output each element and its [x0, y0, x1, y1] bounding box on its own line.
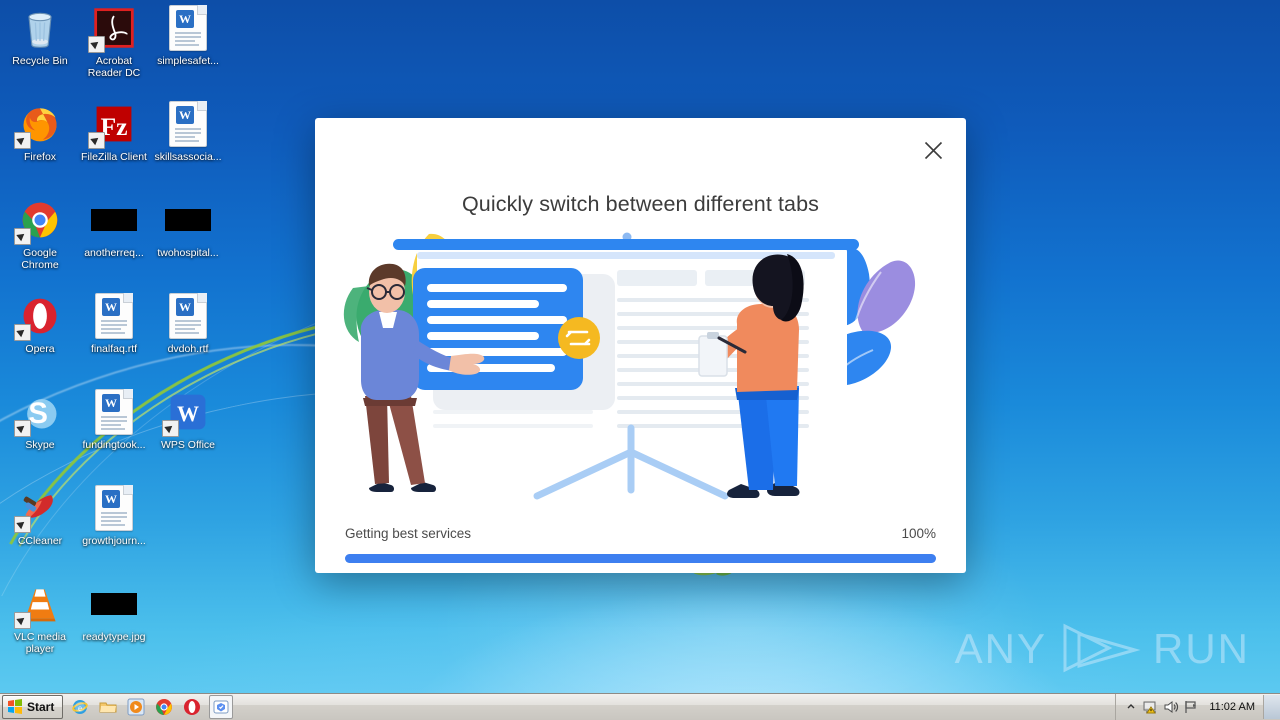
svg-text:S: S: [28, 397, 48, 430]
opera-icon: [16, 292, 64, 340]
start-label: Start: [27, 700, 54, 714]
desktop-icon-acrobat-reader-dc[interactable]: Acrobat Reader DC: [78, 4, 150, 79]
taskbar-item-opera[interactable]: [181, 696, 203, 718]
shortcut-overlay-icon: [14, 516, 31, 533]
shortcut-overlay-icon: [88, 36, 105, 53]
shortcut-overlay-icon: [88, 132, 105, 149]
windows-logo-icon: [7, 699, 23, 715]
desktop-icon-label: growthjourn...: [78, 535, 150, 547]
rtf-doc-icon: W: [164, 292, 212, 340]
desktop-icon-ccleaner[interactable]: CCleaner: [4, 484, 76, 547]
desktop-icon-label: FileZilla Client: [78, 151, 150, 163]
taskbar-item-chrome[interactable]: [153, 696, 175, 718]
volume-icon[interactable]: [1161, 697, 1181, 717]
skype-icon: S: [16, 388, 64, 436]
desktop-icon-label: Google Chrome: [4, 247, 76, 271]
firefox-icon: [16, 100, 64, 148]
board-top-bar: [393, 239, 859, 250]
desktop-icon-label: anotherreq...: [78, 247, 150, 259]
recycle-bin-icon: [16, 4, 64, 52]
windows-explorer-icon: [99, 698, 117, 716]
desktop-icon-label: Opera: [4, 343, 76, 355]
desktop-icon-recycle-bin[interactable]: Recycle Bin: [4, 4, 76, 67]
acrobat-icon: [90, 4, 138, 52]
rtf-doc-icon: W: [90, 388, 138, 436]
chrome-icon: [155, 698, 173, 716]
filezilla-icon: Fz: [90, 100, 138, 148]
action-center-flag-icon[interactable]: [1181, 697, 1201, 717]
desktop-icon-label: Firefox: [4, 151, 76, 163]
show-hidden-icons-icon[interactable]: [1121, 697, 1141, 717]
progress-bar-fill: [345, 554, 936, 563]
desktop-icon-label: readytype.jpg: [78, 631, 150, 643]
desktop-icon-simplesafet[interactable]: Wsimplesafet...: [152, 4, 224, 67]
progress-percent-label: 100%: [901, 526, 936, 541]
progress-track: [345, 554, 936, 563]
taskbar: Start e: [0, 693, 1280, 720]
desktop-icon-filezilla-client[interactable]: FzFileZilla Client: [78, 100, 150, 163]
redacted-icon: [90, 580, 138, 628]
shortcut-overlay-icon: [14, 612, 31, 629]
desktop-icon-skype[interactable]: SSkype: [4, 388, 76, 451]
desktop-icon-label: dvdoh.rtf: [152, 343, 224, 355]
desktop-icon-label: twohospital...: [152, 247, 224, 259]
desktop-icon-label: VLC media player: [4, 631, 76, 655]
taskbar-clock[interactable]: 11:02 AM: [1201, 701, 1263, 713]
opera-icon: [183, 698, 201, 716]
desktop-icon-skillsassocia[interactable]: Wskillsassocia...: [152, 100, 224, 163]
desktop-icon-label: fundingtook...: [78, 439, 150, 451]
start-button[interactable]: Start: [2, 695, 63, 719]
rtf-doc-icon: W: [164, 4, 212, 52]
presentation-board-illustration: [325, 228, 956, 518]
desktop-icon-google-chrome[interactable]: Google Chrome: [4, 196, 76, 271]
desktop-icon-opera[interactable]: Opera: [4, 292, 76, 355]
vlc-icon: [16, 580, 64, 628]
shortcut-overlay-icon: [14, 324, 31, 341]
svg-text:e: e: [78, 703, 82, 713]
media-player-icon: [127, 698, 145, 716]
network-warning-icon[interactable]: [1141, 697, 1161, 717]
system-tray: 11:02 AM: [1115, 694, 1280, 720]
installer-window-icon: [213, 699, 229, 715]
rtf-doc-icon: W: [164, 100, 212, 148]
redacted-icon: [164, 196, 212, 244]
rtf-doc-icon: W: [90, 292, 138, 340]
desktop-icon-label: Recycle Bin: [4, 55, 76, 67]
switch-badge-icon: [558, 317, 600, 359]
desktop-icon-label: simplesafet...: [152, 55, 224, 67]
chrome-icon: [16, 196, 64, 244]
desktop-icon-firefox[interactable]: Firefox: [4, 100, 76, 163]
desktop-icon-vlc-media-player[interactable]: VLC media player: [4, 580, 76, 655]
desktop-icon-label: Acrobat Reader DC: [78, 55, 150, 79]
desktop-icon-anotherreq[interactable]: anotherreq...: [78, 196, 150, 259]
desktop-icon-readytype-jpg[interactable]: readytype.jpg: [78, 580, 150, 643]
shortcut-overlay-icon: [162, 420, 179, 437]
desktop-icon-label: skillsassocia...: [152, 151, 224, 163]
internet-explorer-icon: e: [71, 698, 89, 716]
taskbar-item-windows-explorer[interactable]: [97, 696, 119, 718]
svg-text:W: W: [177, 401, 199, 426]
desktop-icon-label: Skype: [4, 439, 76, 451]
desktop-icon-fundingtook[interactable]: Wfundingtook...: [78, 388, 150, 451]
desktop-icon-wps-office[interactable]: WWPS Office: [152, 388, 224, 451]
desktop-icon-dvdoh-rtf[interactable]: Wdvdoh.rtf: [152, 292, 224, 355]
taskbar-item-media-player[interactable]: [125, 696, 147, 718]
desktop-icon-finalfaq-rtf[interactable]: Wfinalfaq.rtf: [78, 292, 150, 355]
desktop-icon-growthjourn[interactable]: Wgrowthjourn...: [78, 484, 150, 547]
shortcut-overlay-icon: [14, 228, 31, 245]
status-text: Getting best services: [345, 526, 471, 541]
shortcut-overlay-icon: [14, 420, 31, 437]
desktop-icon-label: WPS Office: [152, 439, 224, 451]
taskbar-item-installer[interactable]: [209, 695, 233, 719]
rtf-doc-icon: W: [90, 484, 138, 532]
taskbar-item-internet-explorer[interactable]: e: [69, 696, 91, 718]
wps-icon: W: [164, 388, 212, 436]
ccleaner-icon: [16, 484, 64, 532]
show-desktop-button[interactable]: [1263, 695, 1280, 719]
close-icon[interactable]: [914, 131, 952, 169]
progress-section: Getting best services 100%: [345, 526, 936, 563]
desktop-icon-label: finalfaq.rtf: [78, 343, 150, 355]
redacted-icon: [90, 196, 138, 244]
shortcut-overlay-icon: [14, 132, 31, 149]
page-title: Quickly switch between different tabs: [315, 192, 966, 217]
desktop-icon-twohospital[interactable]: twohospital...: [152, 196, 224, 259]
desktop-icon-label: CCleaner: [4, 535, 76, 547]
onboarding-dialog: Quickly switch between different tabs: [315, 118, 966, 573]
